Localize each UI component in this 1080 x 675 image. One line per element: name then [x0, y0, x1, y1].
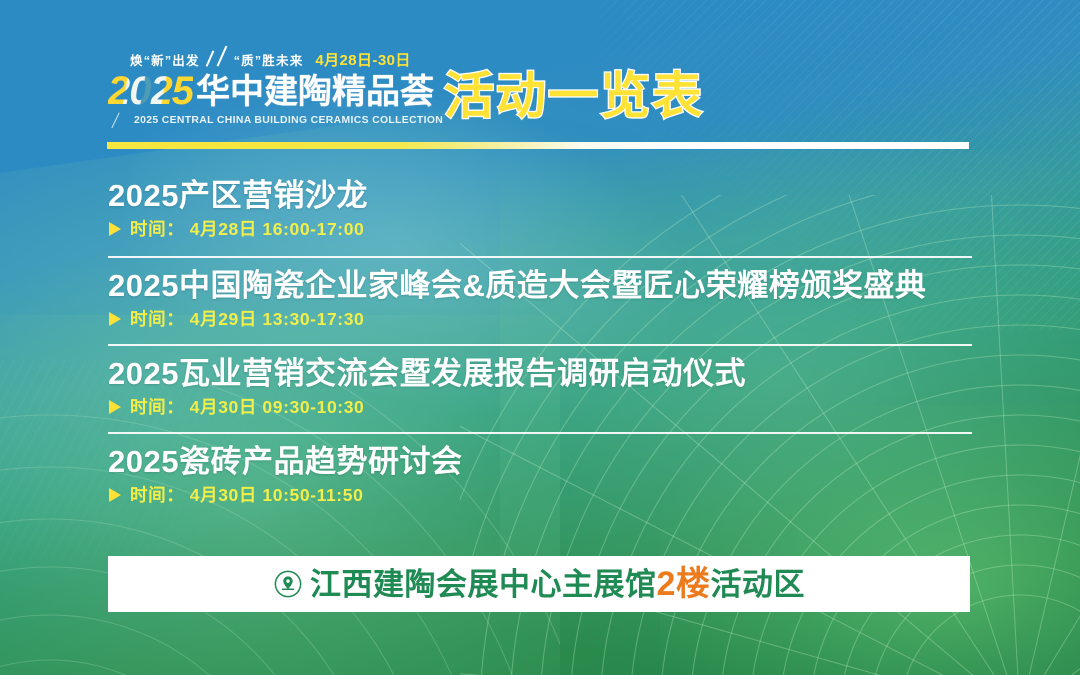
- event-time-row: 时间： 4月30日 10:50-11:50: [108, 485, 972, 505]
- event-item: 2025中国陶瓷企业家峰会&质造大会暨匠心荣耀榜颁奖盛典 时间： 4月29日 1…: [108, 256, 972, 344]
- slogan-right: “质”胜未来: [234, 54, 304, 68]
- event-item: 2025产区营销沙龙 时间： 4月28日 16:00-17:00: [108, 168, 972, 256]
- location-pin-icon: [273, 569, 303, 599]
- event-time-row: 时间： 4月28日 16:00-17:00: [108, 219, 972, 239]
- slogan-row: 焕“新”出发 “质”胜未来 4月28日-30日: [108, 48, 438, 68]
- slogan-left: 焕“新”出发: [130, 54, 200, 68]
- event-time-row: 时间： 4月30日 09:30-10:30: [108, 397, 972, 417]
- event-time: 时间： 4月30日 10:50-11:50: [130, 485, 363, 505]
- event-time-row: 时间： 4月29日 13:30-17:30: [108, 309, 972, 329]
- double-slash-icon: [200, 52, 234, 68]
- logo-wordmark: 2025 华中建陶精品荟: [108, 69, 438, 111]
- venue-prefix: 江西建陶会展中心主展馆: [310, 567, 657, 602]
- triangle-bullet-icon: [109, 400, 121, 414]
- event-title: 2025中国陶瓷企业家峰会&质造大会暨匠心荣耀榜颁奖盛典: [108, 258, 972, 304]
- event-time: 时间： 4月30日 09:30-10:30: [130, 397, 364, 417]
- venue-name: 江西建陶会展中心主展馆2楼活动区: [310, 567, 805, 602]
- page-title: 活动一览表: [444, 68, 704, 124]
- event-item: 2025瓦业营销交流会暨发展报告调研启动仪式 时间： 4月30日 09:30-1…: [108, 344, 972, 432]
- event-title: 2025瓷砖产品趋势研讨会: [108, 434, 972, 480]
- event-time: 时间： 4月28日 16:00-17:00: [130, 219, 364, 239]
- logo-name-cn: 华中建陶精品荟: [196, 74, 434, 110]
- venue-suffix: 活动区: [710, 567, 805, 602]
- header-divider: [107, 142, 969, 149]
- logo-english-row: 2025 CENTRAL CHINA BUILDING CERAMICS COL…: [108, 113, 438, 129]
- event-logo: 焕“新”出发 “质”胜未来 4月28日-30日 2025 华中建陶精品荟 202…: [108, 48, 438, 129]
- event-item: 2025瓷砖产品趋势研讨会 时间： 4月30日 10:50-11:50: [108, 432, 972, 520]
- poster-header: 焕“新”出发 “质”胜未来 4月28日-30日 2025 华中建陶精品荟 202…: [108, 48, 1008, 146]
- logo-subtitle-en: 2025 CENTRAL CHINA BUILDING CERAMICS COL…: [134, 115, 443, 127]
- triangle-bullet-icon: [109, 488, 121, 502]
- triangle-bullet-icon: [109, 312, 121, 326]
- venue-floor-highlight: 2楼: [657, 565, 711, 603]
- poster-canvas: 焕“新”出发 “质”胜未来 4月28日-30日 2025 华中建陶精品荟 202…: [0, 0, 1080, 675]
- triangle-bullet-icon: [109, 222, 121, 236]
- venue-bar: 江西建陶会展中心主展馆2楼活动区: [108, 556, 970, 612]
- event-list: 2025产区营销沙龙 时间： 4月28日 16:00-17:00 2025中国陶…: [108, 168, 972, 520]
- event-time: 时间： 4月29日 13:30-17:30: [130, 309, 364, 329]
- event-title: 2025产区营销沙龙: [108, 168, 972, 214]
- slash-icon: [108, 114, 134, 128]
- event-title: 2025瓦业营销交流会暨发展报告调研启动仪式: [108, 346, 972, 392]
- logo-year: 2025: [108, 71, 193, 111]
- event-dates: 4月28日-30日: [315, 53, 410, 68]
- venue-content: 江西建陶会展中心主展馆2楼活动区: [273, 567, 805, 602]
